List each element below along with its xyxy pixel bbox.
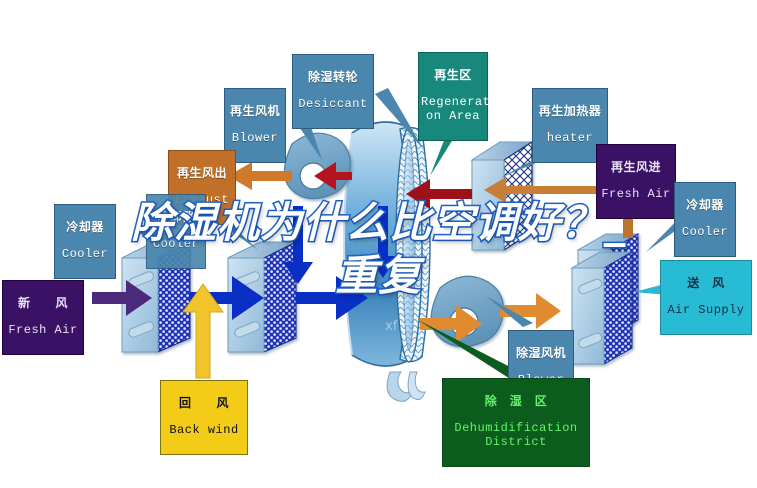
label-back-wind-cn: 回 风 bbox=[163, 397, 245, 410]
overlay-title-line1: 除湿机为什么比空调好？_ bbox=[131, 198, 626, 247]
label-dehumidification-district[interactable]: 除 湿 区 Dehumidification District bbox=[442, 378, 590, 467]
label-regen-area-cn: 再生区 bbox=[421, 69, 485, 82]
label-regen-blower-en: Blower bbox=[227, 132, 283, 145]
label-regen-blower-cn: 再生风机 bbox=[227, 105, 283, 118]
label-exhaust-cn: 再生风出 bbox=[171, 167, 233, 180]
label-back-wind[interactable]: 回 风 Back wind bbox=[160, 380, 248, 455]
label-desiccant-en: Desiccant bbox=[295, 98, 371, 111]
label-fresh-air-en: Fresh Air bbox=[5, 324, 81, 337]
overlay-title-line2: 重复 bbox=[0, 249, 757, 302]
label-regeneration-area[interactable]: 再生区 Regenerati on Area bbox=[418, 52, 488, 141]
label-dehum-area-en: Dehumidification District bbox=[445, 422, 587, 449]
watermark-text: xf bbox=[385, 319, 398, 334]
label-desiccant-cn: 除湿转轮 bbox=[295, 71, 371, 84]
dehumidifier-diagram: xf bbox=[0, 0, 757, 488]
label-regen-heater-cn: 再生加热器 bbox=[535, 105, 605, 118]
arrow-exhaust bbox=[228, 162, 292, 190]
label-dehum-area-cn: 除 湿 区 bbox=[445, 395, 587, 408]
label-regen-area-en: Regenerati on Area bbox=[421, 96, 485, 123]
label-desiccant[interactable]: 除湿转轮 Desiccant bbox=[292, 54, 374, 129]
label-dehum-blower-cn: 除湿风机 bbox=[511, 347, 571, 360]
overlay-title: 除湿机为什么比空调好？_ 重复 bbox=[0, 196, 757, 302]
label-air-supply-en: Air Supply bbox=[663, 304, 749, 317]
label-back-wind-en: Back wind bbox=[163, 424, 245, 437]
label-regen-heater-en: heater bbox=[535, 132, 605, 145]
label-fresh-air-regen-cn: 再生风进 bbox=[599, 161, 673, 174]
regeneration-blower bbox=[284, 133, 350, 198]
